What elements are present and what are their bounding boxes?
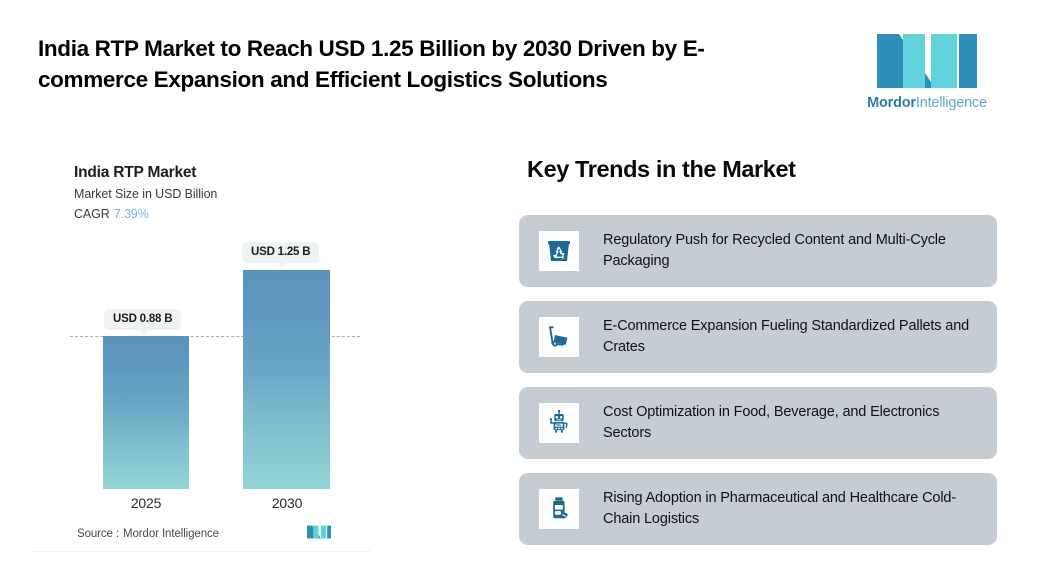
brand-name-light: Intelligence xyxy=(916,95,987,111)
robot-icon xyxy=(539,403,579,443)
trend-text: Rising Adoption in Pharmaceutical and He… xyxy=(603,488,979,530)
medicine-bottle-icon xyxy=(539,489,579,529)
trend-card-pharma-adoption[interactable]: Rising Adoption in Pharmaceutical and He… xyxy=(519,473,997,545)
bar-value-label-2030: USD 1.25 B xyxy=(242,242,319,263)
trend-card-regulatory-push[interactable]: Regulatory Push for Recycled Content and… xyxy=(519,215,997,287)
trend-text: Regulatory Push for Recycled Content and… xyxy=(603,230,979,272)
source-label: Source : xyxy=(77,528,119,540)
brand-wordmark: MordorIntelligence xyxy=(862,95,992,111)
trend-card-cost-optimization[interactable]: Cost Optimization in Food, Beverage, and… xyxy=(519,387,997,459)
recycle-bin-icon xyxy=(539,231,579,271)
hand-truck-icon xyxy=(539,317,579,357)
mordor-mark-icon xyxy=(306,524,332,540)
bar-2025 xyxy=(103,336,189,489)
bar-value-label-2025: USD 0.88 B xyxy=(104,309,181,330)
trend-list: Regulatory Push for Recycled Content and… xyxy=(519,215,997,559)
brand-logo: MordorIntelligence xyxy=(862,30,992,110)
bar-2030 xyxy=(243,270,330,489)
x-axis-tick-2030: 2030 xyxy=(232,495,342,511)
trend-text: E-Commerce Expansion Fueling Standardize… xyxy=(603,316,979,358)
trend-card-ecommerce-expansion[interactable]: E-Commerce Expansion Fueling Standardize… xyxy=(519,301,997,373)
bar-chart-plot-area: USD 0.88 B USD 1.25 B 2025 2030 xyxy=(32,132,370,551)
trend-text: Cost Optimization in Food, Beverage, and… xyxy=(603,402,979,444)
brand-name-bold: Mordor xyxy=(867,95,916,111)
chart-panel: India RTP Market Market Size in USD Bill… xyxy=(32,132,371,552)
x-axis-tick-2025: 2025 xyxy=(91,495,201,511)
source-name: Mordor Intelligence xyxy=(123,528,219,540)
mordor-intelligence-logo-icon xyxy=(873,30,981,92)
chart-source: Source :Mordor Intelligence xyxy=(77,528,219,540)
trends-heading: Key Trends in the Market xyxy=(527,156,796,183)
page-title: India RTP Market to Reach USD 1.25 Billi… xyxy=(38,34,813,95)
